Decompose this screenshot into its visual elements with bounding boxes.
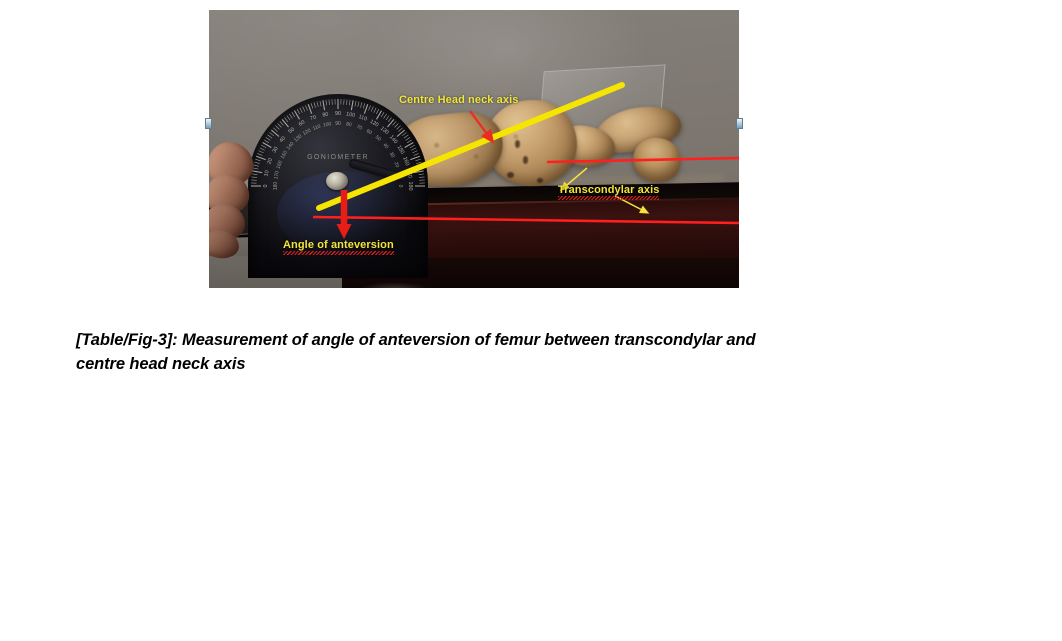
svg-text:120: 120 <box>369 119 380 129</box>
svg-text:120: 120 <box>302 128 312 137</box>
label-angle-of-anteversion-text: Angle of anteversion <box>283 239 394 251</box>
svg-text:30: 30 <box>272 146 280 154</box>
goniometer-instrument: 0102030405060708090100110120130140150160… <box>248 94 428 186</box>
svg-text:70: 70 <box>356 124 363 132</box>
selection-handle-left[interactable] <box>205 118 212 129</box>
goniometer-pivot-screw <box>326 172 348 190</box>
svg-text:80: 80 <box>322 112 329 119</box>
label-transcondylar-axis-text: Transcondylar axis <box>558 184 659 196</box>
hand-holding-goniometer <box>209 140 259 258</box>
table-light-reflection <box>359 282 429 288</box>
svg-text:0: 0 <box>263 185 269 188</box>
spellcheck-underline <box>558 196 659 200</box>
label-transcondylar-axis: Transcondylar axis <box>558 184 659 196</box>
svg-text:180: 180 <box>407 182 413 191</box>
svg-text:60: 60 <box>298 120 306 128</box>
selection-handle-right[interactable] <box>736 118 743 129</box>
svg-text:140: 140 <box>286 141 296 151</box>
svg-text:70: 70 <box>310 114 318 122</box>
svg-text:50: 50 <box>374 134 382 142</box>
svg-text:140: 140 <box>388 134 398 145</box>
bone-foramen <box>537 178 543 183</box>
figure-image-container[interactable]: 0102030405060708090100110120130140150160… <box>209 10 739 288</box>
photograph[interactable]: 0102030405060708090100110120130140150160… <box>209 10 739 288</box>
svg-text:110: 110 <box>312 123 322 131</box>
svg-text:90: 90 <box>335 111 341 117</box>
document-page: 0102030405060708090100110120130140150160… <box>0 0 1062 641</box>
svg-text:130: 130 <box>293 133 303 143</box>
label-centre-head-neck-axis: Centre Head neck axis <box>399 94 519 106</box>
svg-text:60: 60 <box>365 128 373 136</box>
svg-text:0: 0 <box>397 185 403 188</box>
spellcheck-underline <box>283 251 394 255</box>
svg-text:170: 170 <box>405 169 412 179</box>
goniometer-brand-text: GONIOMETER <box>248 154 428 161</box>
svg-text:20: 20 <box>392 161 400 168</box>
svg-text:170: 170 <box>273 170 280 179</box>
label-angle-of-anteversion: Angle of anteversion <box>283 239 394 251</box>
svg-text:100: 100 <box>346 111 356 118</box>
svg-text:90: 90 <box>335 121 341 127</box>
bone-foramen <box>507 172 514 178</box>
svg-text:160: 160 <box>275 160 284 170</box>
svg-text:100: 100 <box>323 121 332 128</box>
svg-text:50: 50 <box>287 127 295 135</box>
svg-text:40: 40 <box>279 135 287 143</box>
svg-text:40: 40 <box>381 142 389 150</box>
svg-text:110: 110 <box>358 114 368 123</box>
svg-text:180: 180 <box>273 182 279 191</box>
bone-foramen <box>523 156 528 164</box>
bone-foramen <box>515 140 520 148</box>
svg-text:130: 130 <box>379 126 390 136</box>
svg-text:10: 10 <box>264 170 271 177</box>
svg-text:80: 80 <box>346 122 353 129</box>
figure-caption: [Table/Fig-3]: Measurement of angle of a… <box>76 328 796 376</box>
label-centre-head-neck-axis-text: Centre Head neck axis <box>399 94 519 106</box>
